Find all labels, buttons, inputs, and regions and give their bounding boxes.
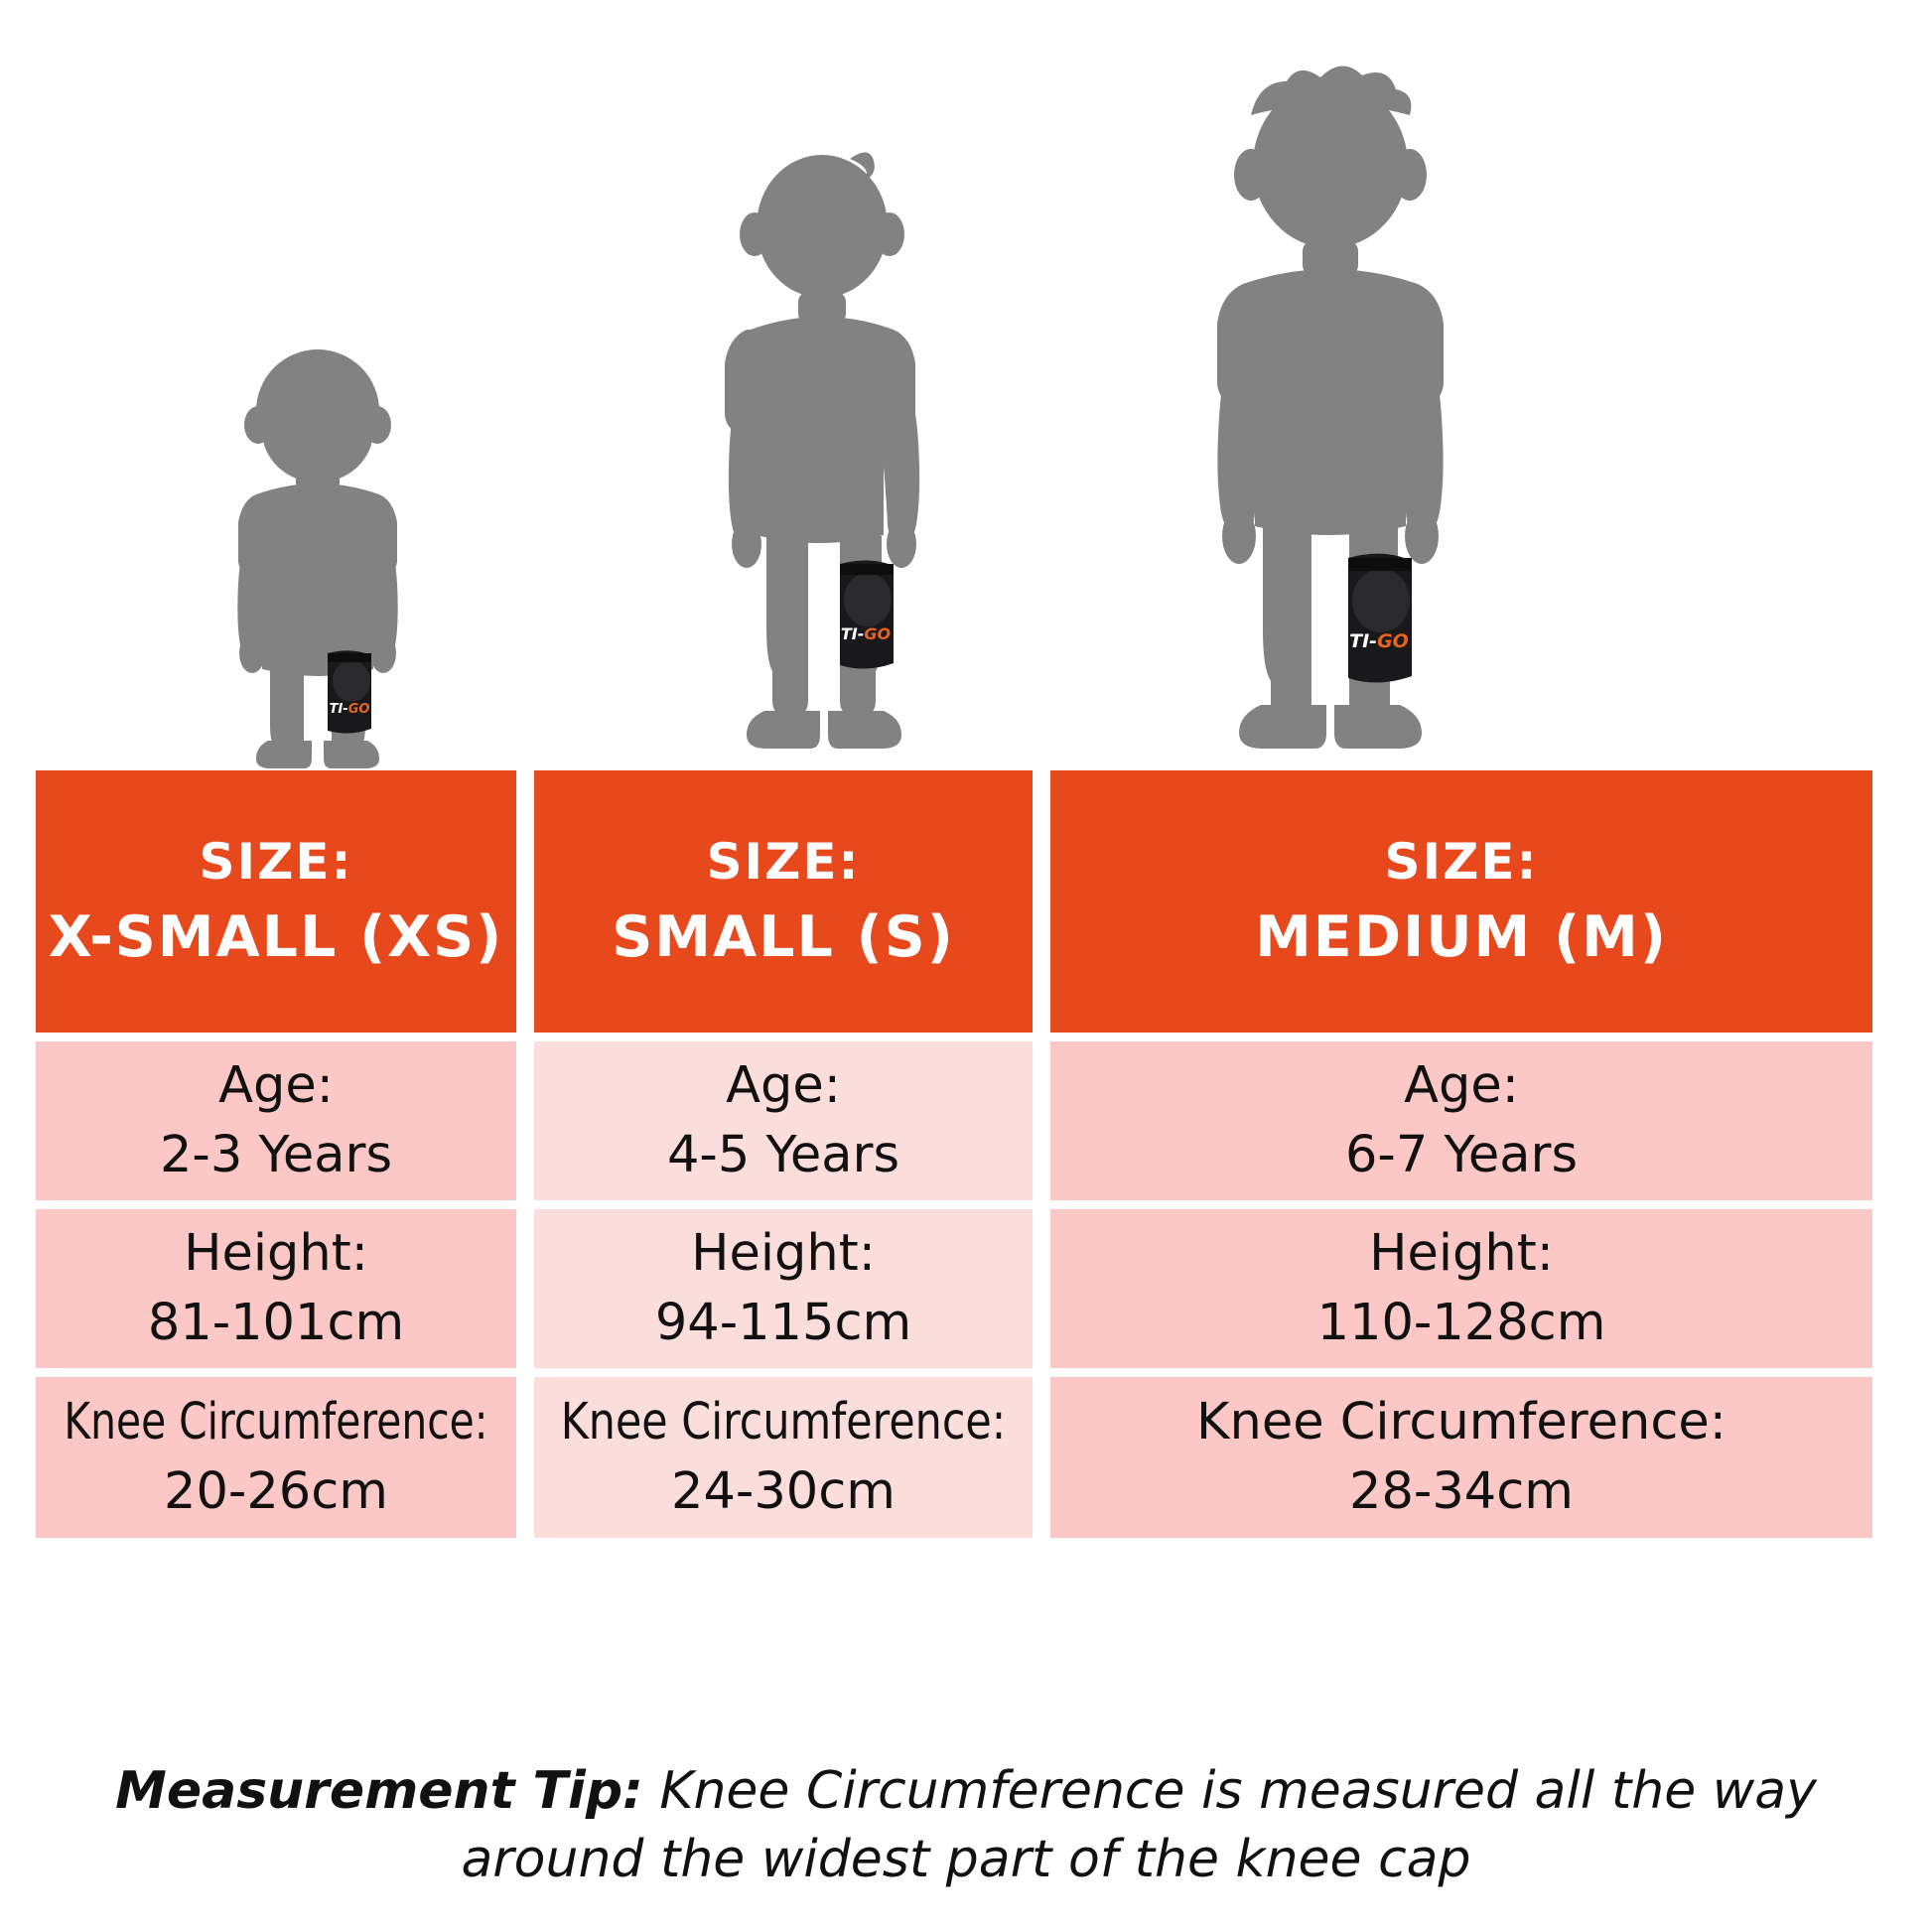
header-label: SIZE: (1384, 830, 1538, 894)
child-silhouette-small-svg: TI-GO (655, 135, 993, 770)
header-cell-small: SIZE: SMALL (S) (534, 770, 1033, 1033)
row-label-height: Height: (184, 1221, 368, 1287)
brace-logo-xsmall: TI-GO (330, 702, 370, 717)
cell-knee-medium: Knee Circumference: 28-34cm (1050, 1377, 1872, 1538)
row-label-height: Height: (691, 1221, 876, 1287)
value-age-small: 4-5 Years (667, 1123, 899, 1188)
header-label: SIZE: (706, 830, 860, 894)
header-cell-medium: SIZE: MEDIUM (M) (1050, 770, 1872, 1033)
cell-age-medium: Age: 6-7 Years (1050, 1041, 1872, 1200)
header-value-xsmall: X-SMALL (XS) (49, 901, 503, 974)
measurement-tip-text: Knee Circumference is measured all the w… (461, 1761, 1816, 1889)
size-table: SIZE: X-SMALL (XS) SIZE: SMALL (S) SIZE:… (36, 770, 1857, 1547)
value-age-medium: 6-7 Years (1345, 1123, 1578, 1188)
value-height-xsmall: 81-101cm (148, 1291, 404, 1356)
measurement-tip-label: Measurement Tip: (115, 1761, 643, 1821)
row-label-knee: Knee Circumference: (1196, 1390, 1726, 1455)
child-silhouette-medium-svg: TI-GO (1132, 60, 1529, 770)
value-knee-small: 24-30cm (671, 1459, 896, 1525)
header-label: SIZE: (199, 830, 352, 894)
toddler-silhouette-xsmall-svg: TI-GO (179, 344, 457, 770)
row-label-knee: Knee Circumference: (561, 1390, 1006, 1455)
value-age-xsmall: 2-3 Years (160, 1123, 392, 1188)
header-cell-xsmall: SIZE: X-SMALL (XS) (36, 770, 516, 1033)
figures-row: TI-GO (0, 0, 1932, 770)
row-label-knee: Knee Circumference: (64, 1390, 487, 1455)
knee-brace-medium: TI-GO (1348, 554, 1412, 683)
table-row-knee-circumference: Knee Circumference: 20-26cm Knee Circumf… (36, 1377, 1857, 1538)
row-label-age: Age: (726, 1053, 841, 1119)
size-chart-page: TI-GO (0, 0, 1932, 1932)
measurement-tip: Measurement Tip: Knee Circumference is m… (0, 1757, 1932, 1893)
value-height-small: 94-115cm (655, 1291, 911, 1356)
figure-small: TI-GO (635, 135, 1013, 770)
figure-medium: TI-GO (1112, 60, 1549, 770)
header-value-small: SMALL (S) (612, 901, 955, 974)
cell-height-small: Height: 94-115cm (534, 1209, 1033, 1368)
row-label-age: Age: (1404, 1053, 1519, 1119)
row-label-height: Height: (1369, 1221, 1554, 1287)
cell-height-medium: Height: 110-128cm (1050, 1209, 1872, 1368)
table-row-height: Height: 81-101cm Height: 94-115cm Height… (36, 1209, 1857, 1368)
header-value-medium: MEDIUM (M) (1255, 901, 1668, 974)
value-knee-medium: 28-34cm (1349, 1459, 1574, 1525)
knee-brace-xsmall: TI-GO (328, 650, 371, 733)
cell-age-xsmall: Age: 2-3 Years (36, 1041, 516, 1200)
knee-brace-small: TI-GO (840, 560, 894, 668)
brace-logo-medium: TI-GO (1349, 630, 1409, 652)
value-height-medium: 110-128cm (1317, 1291, 1606, 1356)
cell-age-small: Age: 4-5 Years (534, 1041, 1033, 1200)
cell-knee-small: Knee Circumference: 24-30cm (534, 1377, 1033, 1538)
cell-knee-xsmall: Knee Circumference: 20-26cm (36, 1377, 516, 1538)
brace-logo-small: TI-GO (841, 624, 892, 643)
value-knee-xsmall: 20-26cm (164, 1459, 388, 1525)
figure-xsmall: TI-GO (149, 344, 486, 770)
table-row-age: Age: 2-3 Years Age: 4-5 Years Age: 6-7 Y… (36, 1041, 1857, 1200)
table-header-row: SIZE: X-SMALL (XS) SIZE: SMALL (S) SIZE:… (36, 770, 1857, 1033)
cell-height-xsmall: Height: 81-101cm (36, 1209, 516, 1368)
row-label-age: Age: (218, 1053, 334, 1119)
